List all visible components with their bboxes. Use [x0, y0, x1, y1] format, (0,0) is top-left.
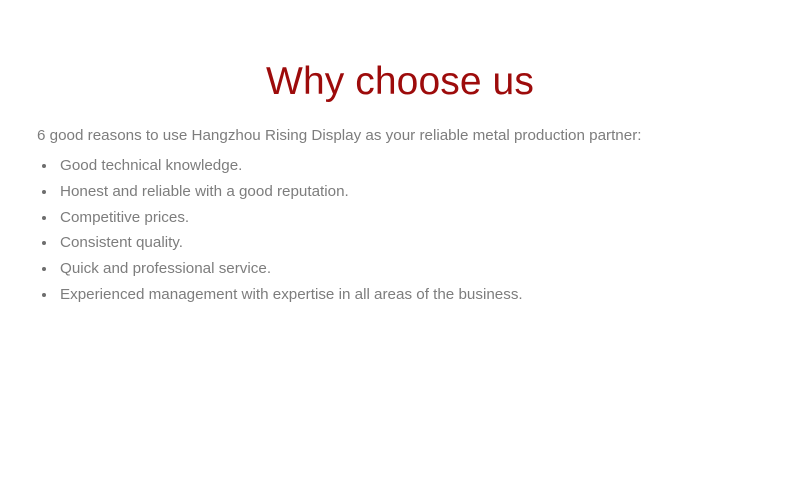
list-item: Honest and reliable with a good reputati… — [0, 179, 800, 205]
list-item-label: Quick and professional service. — [60, 260, 271, 277]
list-item-label: Experienced management with expertise in… — [60, 286, 523, 303]
bullet-icon — [42, 293, 46, 297]
reasons-list: Good technical knowledge. Honest and rel… — [0, 153, 800, 308]
list-item: Consistent quality. — [0, 230, 800, 256]
list-item: Quick and professional service. — [0, 256, 800, 282]
list-item-label: Good technical knowledge. — [60, 157, 242, 174]
bullet-icon — [42, 267, 46, 271]
bullet-icon — [42, 190, 46, 194]
list-item: Experienced management with expertise in… — [0, 282, 800, 308]
list-item-label: Honest and reliable with a good reputati… — [60, 183, 349, 200]
page-title: Why choose us — [0, 59, 800, 105]
list-item: Good technical knowledge. — [0, 153, 800, 179]
list-item-label: Competitive prices. — [60, 209, 189, 226]
bullet-icon — [42, 164, 46, 168]
page-container: Why choose us 6 good reasons to use Hang… — [0, 0, 800, 494]
bullet-icon — [42, 241, 46, 245]
list-item: Competitive prices. — [0, 205, 800, 231]
intro-paragraph: 6 good reasons to use Hangzhou Rising Di… — [37, 125, 777, 147]
bullet-icon — [42, 216, 46, 220]
list-item-label: Consistent quality. — [60, 234, 183, 251]
